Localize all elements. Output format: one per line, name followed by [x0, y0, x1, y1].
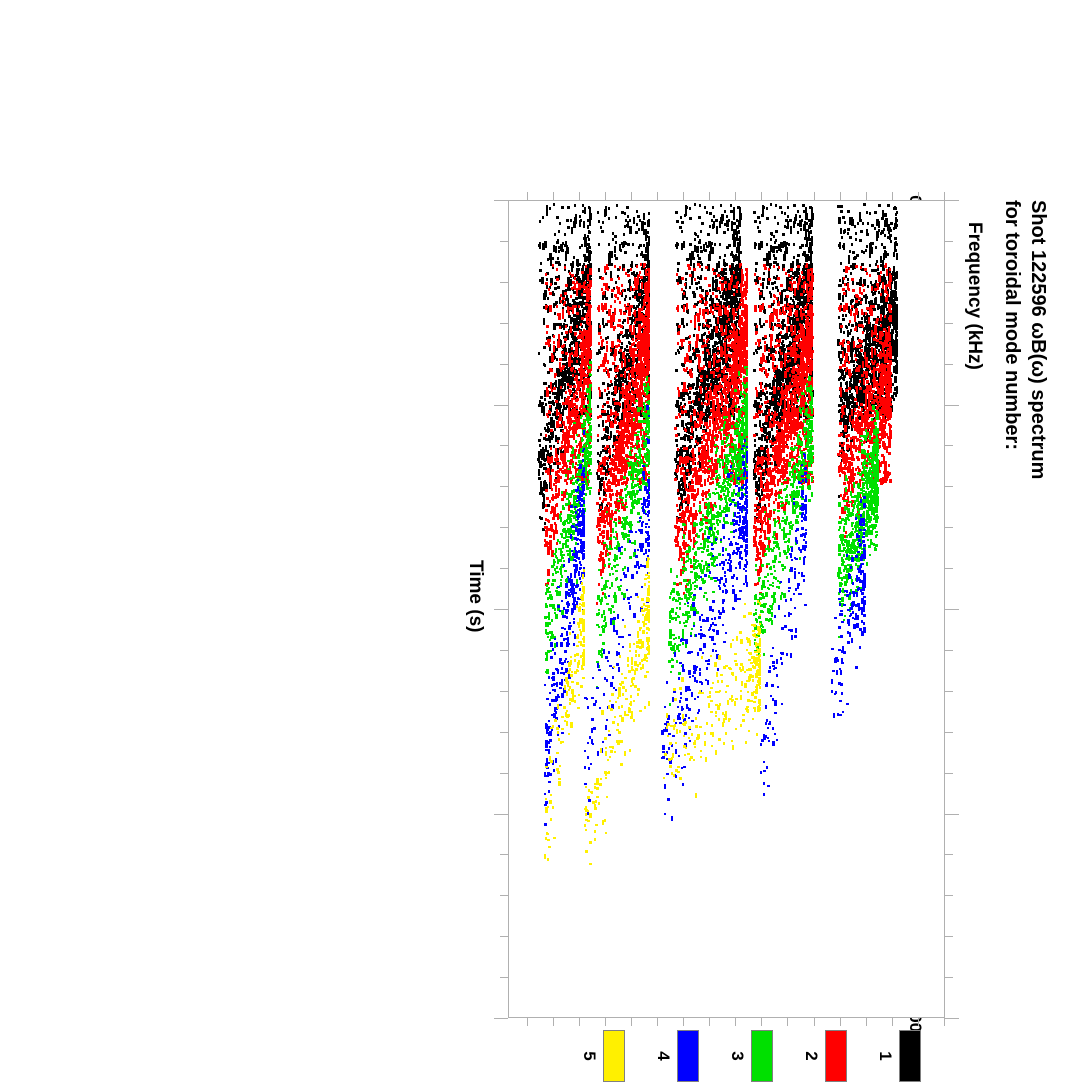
tick-mark — [761, 192, 762, 200]
tick-mark — [494, 405, 508, 406]
time-axis-label: Time (s) — [464, 560, 486, 633]
tick-mark — [709, 1018, 710, 1026]
tick-mark — [553, 192, 554, 200]
tick-mark — [787, 192, 788, 200]
tick-mark — [709, 192, 710, 200]
tick-mark — [945, 568, 953, 569]
legend-swatch-4 — [677, 1030, 699, 1082]
tick-mark — [631, 192, 632, 200]
tick-mark — [945, 405, 959, 406]
tick-mark — [945, 977, 953, 978]
tick-mark — [892, 192, 893, 200]
tick-mark — [494, 609, 508, 610]
frequency-axis-label: Frequency (kHz) — [963, 222, 985, 370]
tick-mark — [500, 977, 508, 978]
tick-mark — [945, 732, 953, 733]
tick-mark — [945, 814, 959, 815]
tick-mark — [945, 200, 959, 201]
legend-label-3: 3 — [727, 1030, 747, 1082]
tick-mark — [500, 486, 508, 487]
spectrogram-figure: Shot 122596 ωB(ω) spectrum for toroidal … — [0, 0, 1071, 1071]
tick-mark — [500, 650, 508, 651]
tick-mark — [494, 200, 508, 201]
tick-mark — [657, 192, 658, 200]
tick-mark — [814, 1018, 815, 1026]
tick-mark — [494, 1018, 508, 1019]
legend-swatch-3 — [751, 1030, 773, 1082]
tick-mark — [579, 192, 580, 200]
tick-mark — [944, 1018, 945, 1026]
tick-mark — [840, 192, 841, 200]
tick-mark — [500, 854, 508, 855]
tick-mark — [683, 192, 684, 200]
legend-label-4: 4 — [653, 1030, 673, 1082]
tick-mark — [494, 814, 508, 815]
tick-mark — [500, 773, 508, 774]
tick-mark — [892, 1018, 893, 1026]
figure-title-line1: Shot 122596 ωB(ω) spectrum — [1026, 200, 1049, 479]
tick-mark — [500, 445, 508, 446]
tick-mark — [735, 192, 736, 200]
tick-mark — [945, 895, 953, 896]
tick-mark — [500, 527, 508, 528]
tick-mark — [945, 282, 953, 283]
tick-mark — [787, 1018, 788, 1026]
figure-title-line2: for toroidal mode number: — [1000, 200, 1023, 450]
tick-mark — [945, 364, 953, 365]
tick-mark — [631, 1018, 632, 1026]
tick-mark — [605, 1018, 606, 1026]
tick-mark — [945, 773, 953, 774]
tick-mark — [945, 609, 959, 610]
tick-mark — [814, 192, 815, 200]
tick-mark — [840, 1018, 841, 1026]
tick-mark — [761, 1018, 762, 1026]
tick-mark — [553, 1018, 554, 1026]
legend-swatch-5 — [603, 1030, 625, 1082]
tick-mark — [945, 936, 953, 937]
tick-mark — [866, 192, 867, 200]
plot-area — [508, 200, 945, 1018]
tick-mark — [918, 1018, 919, 1026]
tick-mark — [945, 323, 953, 324]
tick-mark — [500, 364, 508, 365]
tick-mark — [945, 854, 953, 855]
legend-swatch-1 — [899, 1030, 921, 1082]
tick-mark — [683, 1018, 684, 1026]
legend-swatch-2 — [825, 1030, 847, 1082]
tick-mark — [500, 732, 508, 733]
tick-mark — [500, 241, 508, 242]
tick-mark — [945, 527, 953, 528]
tick-mark — [500, 282, 508, 283]
tick-mark — [500, 323, 508, 324]
tick-mark — [500, 691, 508, 692]
tick-mark — [500, 568, 508, 569]
tick-mark — [605, 192, 606, 200]
tick-mark — [945, 691, 953, 692]
tick-mark — [945, 241, 953, 242]
tick-mark — [944, 192, 945, 200]
tick-mark — [527, 192, 528, 200]
legend-label-5: 5 — [579, 1030, 599, 1082]
tick-mark — [918, 192, 919, 200]
legend-label-2: 2 — [801, 1030, 821, 1082]
tick-mark — [735, 1018, 736, 1026]
tick-mark — [945, 486, 953, 487]
tick-mark — [500, 936, 508, 937]
tick-mark — [527, 1018, 528, 1026]
tick-mark — [945, 445, 953, 446]
tick-mark — [657, 1018, 658, 1026]
tick-mark — [579, 1018, 580, 1026]
tick-mark — [866, 1018, 867, 1026]
tick-mark — [945, 650, 953, 651]
tick-mark — [500, 895, 508, 896]
tick-mark — [945, 1018, 959, 1019]
legend-label-1: 1 — [875, 1030, 895, 1082]
